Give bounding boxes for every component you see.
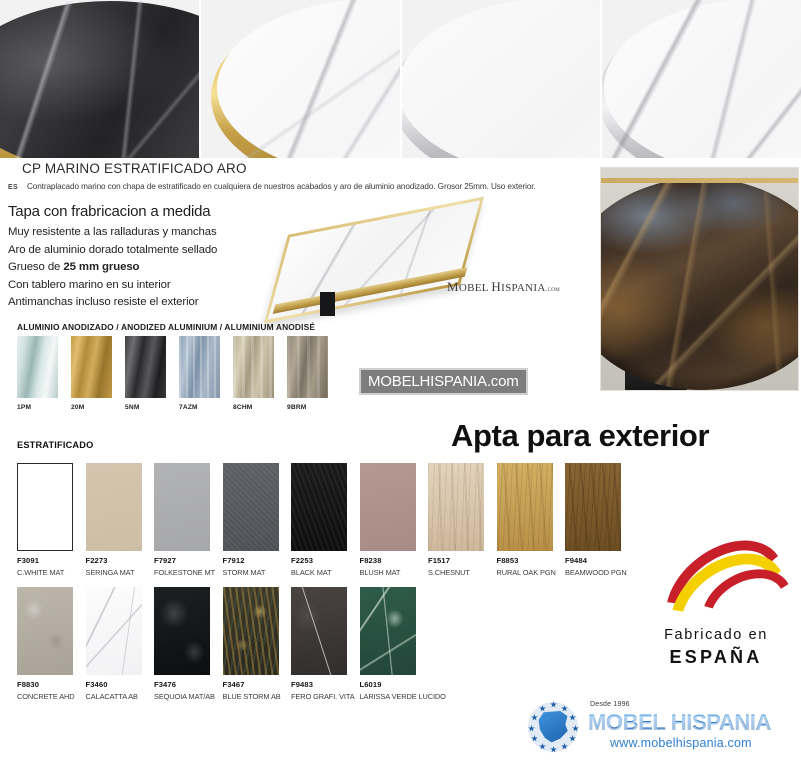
swatch-color: [17, 587, 73, 675]
globe-icon: [528, 702, 578, 752]
swatch-color: [86, 587, 142, 675]
swatch-color: [17, 463, 73, 551]
swatch-name: SERINGA MAT: [86, 568, 142, 577]
product-spec-sheet: CP MARINO ESTRATIFICADO ARO ES Contrapla…: [0, 0, 801, 768]
swatch-code: F1517: [428, 556, 484, 565]
swatch-color: [125, 336, 166, 398]
swatch-color: [360, 463, 416, 551]
product-description: Contraplacado marino con chapa de estrat…: [27, 182, 536, 191]
laminate-heading: ESTRATIFICADO: [17, 440, 93, 450]
spanish-flag-icon: [653, 543, 779, 623]
company-url[interactable]: www.mobelhispania.com: [610, 736, 752, 750]
outdoor-table-photo: [601, 168, 798, 390]
caption-dotcom: .com: [546, 285, 560, 293]
feature-list: Tapa con frabricacion a medida Muy resis…: [8, 203, 268, 314]
swatch-name: S.CHESNUT: [428, 568, 484, 577]
table-column: [320, 292, 335, 316]
thickness-prefix: Grueso de: [8, 261, 60, 273]
laminate-swatch-f2273[interactable]: F2273 SERINGA MAT: [86, 463, 142, 577]
swatch-name: BLUE STORM AB: [223, 692, 279, 701]
brand-caption: MOBEL HISPANIA.com: [447, 279, 560, 295]
swatch-color: [179, 336, 220, 398]
swatch-color: [154, 463, 210, 551]
swatch-code: F3091: [17, 556, 73, 565]
swatch-color: [497, 463, 553, 551]
white-marble-surface: [217, 0, 400, 158]
photo-white-marble-silver-rim: [602, 0, 801, 158]
feature-heading: Tapa con frabricacion a medida: [8, 203, 268, 220]
swatch-color: [565, 463, 621, 551]
swatch-color: [71, 336, 112, 398]
swatch-name: BEAMWOOD PGN: [565, 568, 621, 577]
laminate-swatch-f7912[interactable]: F7912 STORM MAT: [223, 463, 279, 577]
swatch-code: F9484: [565, 556, 621, 565]
caption-obel: OBEL: [459, 282, 492, 294]
swatch-color: [291, 587, 347, 675]
swatch-code: F7912: [223, 556, 279, 565]
swatch-name: FERO GRAFI. VITA: [291, 692, 347, 701]
swatch-color: [17, 336, 58, 398]
swatch-code: L6019: [360, 680, 416, 689]
swatch-code: 20M: [71, 404, 112, 411]
swatch-color: [223, 587, 279, 675]
photo-black-marble-gold-rim: [0, 0, 199, 158]
feature-item: Muy resistente a las ralladuras y mancha…: [8, 226, 268, 238]
top-photo-strip: [0, 0, 801, 158]
swatch-code: F7927: [154, 556, 210, 565]
laminate-swatch-f8853[interactable]: F8853 RURAL OAK PGN: [497, 463, 553, 577]
feature-item: Con tablero marino en su interior: [8, 279, 268, 291]
swatch-code: F2273: [86, 556, 142, 565]
laminate-swatch-f2253[interactable]: F2253 BLACK MAT: [291, 463, 347, 577]
aluminium-swatch-7azm[interactable]: 7AZM: [179, 336, 220, 411]
swatch-code: 8CHM: [233, 404, 274, 411]
swatch-name: CONCRETE AHD: [17, 692, 73, 701]
swatch-color: [428, 463, 484, 551]
swatch-code: F2253: [291, 556, 347, 565]
swatch-name: FOLKESTONE MT: [154, 568, 210, 577]
swatch-code: F3467: [223, 680, 279, 689]
outdoor-slogan: Apta para exterior: [451, 418, 709, 454]
company-name: MOBEL HISPANIA: [588, 710, 771, 736]
swatch-code: 7AZM: [179, 404, 220, 411]
photo-white-marble-gold-rim: [201, 0, 400, 158]
swatch-code: F3460: [86, 680, 142, 689]
aluminium-swatch-row: 1PM 20M 5NM 7AZM 8CHM 9BRM: [17, 336, 328, 411]
plain-white-surface: [402, 0, 601, 158]
aluminium-swatch-5nm[interactable]: 5NM: [125, 336, 166, 411]
swatch-code: F8830: [17, 680, 73, 689]
swatch-name: BLACK MAT: [291, 568, 347, 577]
laminate-swatch-f9483[interactable]: F9483 FERO GRAFI. VITA: [291, 587, 347, 701]
laminate-swatch-f8830[interactable]: F8830 CONCRETE AHD: [17, 587, 73, 701]
photo-plain-white-silver-rim: [402, 0, 601, 158]
feature-thickness: Grueso de 25 mm grueso: [8, 261, 268, 273]
swatch-code: F9483: [291, 680, 347, 689]
caption-ispania: ISPANIA: [501, 282, 545, 294]
swatch-color: [154, 587, 210, 675]
swatch-name: SEQUOIA MAT/AB: [154, 692, 210, 701]
swatch-color: [86, 463, 142, 551]
swatch-name: BLUSH MAT: [360, 568, 416, 577]
aluminium-heading: ALUMINIO ANODIZADO / ANODIZED ALUMINIUM …: [17, 322, 315, 332]
swatch-code: F8238: [360, 556, 416, 565]
aluminium-swatch-9brm[interactable]: 9BRM: [287, 336, 328, 411]
laminate-swatch-l6019[interactable]: L6019 LARISSA VERDE LUCIDO: [360, 587, 416, 701]
laminate-swatch-f9484[interactable]: F9484 BEAMWOOD PGN: [565, 463, 621, 577]
laminate-swatch-f3467[interactable]: F3467 BLUE STORM AB: [223, 587, 279, 701]
swatch-code: 1PM: [17, 404, 58, 411]
swatch-code: F8853: [497, 556, 553, 565]
swatch-name: LARISSA VERDE LUCIDO: [360, 692, 416, 701]
laminate-swatch-f7927[interactable]: F7927 FOLKESTONE MT: [154, 463, 210, 577]
company-logo[interactable]: Desde 1996 MOBEL HISPANIA www.mobelhispa…: [528, 700, 778, 758]
white-marble-surface: [604, 0, 801, 158]
black-marble-surface: [0, 1, 199, 158]
laminate-swatch-f1517[interactable]: F1517 S.CHESNUT: [428, 463, 484, 577]
gold-rim: [601, 178, 798, 390]
caption-h: H: [491, 279, 501, 294]
swatch-color: [287, 336, 328, 398]
laminate-swatch-f3476[interactable]: F3476 SEQUOIA MAT/AB: [154, 587, 210, 701]
product-title: CP MARINO ESTRATIFICADO ARO: [22, 161, 247, 176]
thickness-value: 25 mm grueso: [63, 261, 139, 273]
feature-item: Antimanchas incluso resiste el exterior: [8, 296, 268, 308]
swatch-name: RURAL OAK PGN: [497, 568, 553, 577]
aluminium-swatch-8chm[interactable]: 8CHM: [233, 336, 274, 411]
swatch-color: [223, 463, 279, 551]
aluminium-swatch-20m[interactable]: 20M: [71, 336, 112, 411]
aluminium-swatch-1pm[interactable]: 1PM: [17, 336, 58, 411]
swatch-code: 9BRM: [287, 404, 328, 411]
laminate-row-2: F8830 CONCRETE AHD F3460 CALACATTA AB F3…: [17, 587, 621, 701]
made-in-spain-badge: Fabricado en ESPAÑA: [643, 543, 789, 679]
swatch-name: STORM MAT: [223, 568, 279, 577]
feature-item: Aro de aluminio dorado totalmente sellad…: [8, 244, 268, 256]
laminate-swatch-f8238[interactable]: F8238 BLUSH MAT: [360, 463, 416, 577]
square-table-render: MOBEL HISPANIA.com: [258, 208, 508, 313]
swatch-color: [360, 587, 416, 675]
caption-m: M: [447, 279, 459, 294]
swatch-name: CALACATTA AB: [86, 692, 142, 701]
swatch-name: C.WHITE MAT: [17, 568, 73, 577]
laminate-row-1: F3091 C.WHITE MAT F2273 SERINGA MAT F792…: [17, 463, 621, 577]
country-label: ESPAÑA: [643, 647, 789, 668]
laminate-swatch-grid: F3091 C.WHITE MAT F2273 SERINGA MAT F792…: [17, 463, 621, 711]
made-in-label: Fabricado en: [643, 627, 789, 643]
language-tag: ES: [8, 184, 18, 191]
laminate-swatch-f3460[interactable]: F3460 CALACATTA AB: [86, 587, 142, 701]
swatch-color: [291, 463, 347, 551]
watermark: MOBELHISPANIA.com: [359, 368, 528, 395]
swatch-code: 5NM: [125, 404, 166, 411]
laminate-swatch-f3091[interactable]: F3091 C.WHITE MAT: [17, 463, 73, 577]
swatch-color: [233, 336, 274, 398]
swatch-code: F3476: [154, 680, 210, 689]
since-label: Desde 1996: [590, 701, 630, 708]
